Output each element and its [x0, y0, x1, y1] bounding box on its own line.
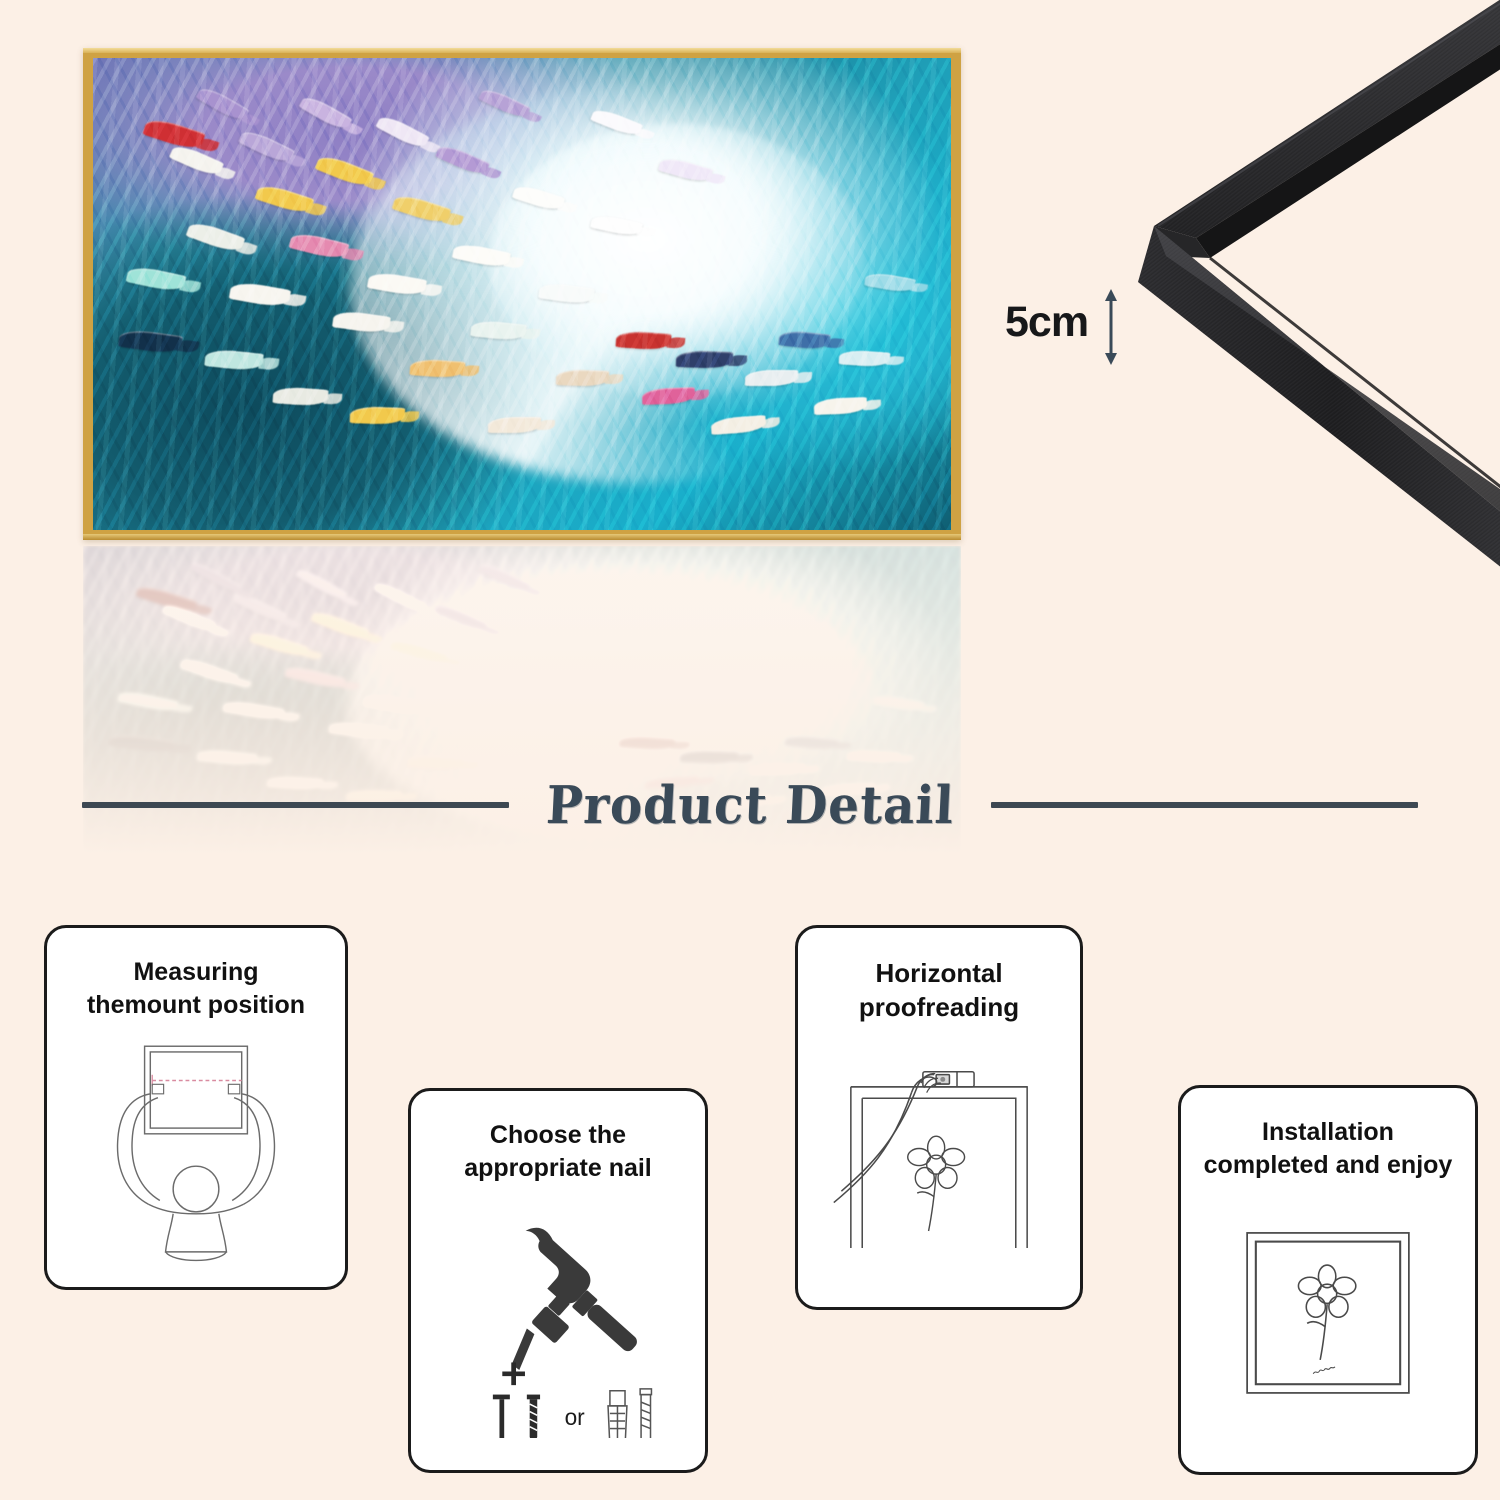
- fish-stroke: [592, 653, 646, 674]
- fish-stroke: [539, 701, 596, 721]
- fish-stroke: [135, 583, 198, 615]
- fish-stroke: [373, 580, 426, 615]
- or-label: or: [565, 1403, 586, 1429]
- fish-stroke: [232, 590, 288, 625]
- instruction-card-title: Installation completed and enjoy: [1204, 1116, 1453, 1182]
- fish-stroke: [408, 755, 465, 771]
- reflection-swirl-core: [487, 592, 873, 783]
- impasto-texture-b: [93, 58, 951, 530]
- instruction-card-installation-complete[interactable]: Installation completed and enjoy: [1178, 1085, 1478, 1475]
- fish-stroke: [873, 693, 925, 712]
- fish-stroke: [363, 693, 424, 716]
- instruction-card-choose-nail[interactable]: Choose the appropriate nail: [408, 1088, 708, 1473]
- instruction-card-horizontal-proofreading[interactable]: Horizontal proofreading: [795, 925, 1083, 1310]
- fish-stroke: [249, 630, 308, 660]
- fish-stroke: [189, 560, 242, 597]
- double-arrow-vertical-icon: [1098, 288, 1124, 366]
- instruction-card-title: Horizontal proofreading: [859, 956, 1019, 1025]
- fish-stroke: [390, 636, 449, 666]
- fish-stroke: [117, 688, 178, 713]
- person-measuring-mount-position-illustration: [61, 1028, 331, 1271]
- fish-stroke: [662, 611, 717, 637]
- instruction-card-measuring[interactable]: Measuring themount position: [44, 925, 348, 1290]
- fish-stroke: [451, 672, 510, 696]
- fish-stroke: [469, 728, 526, 746]
- black-wood-frame-corner: [1130, 0, 1500, 590]
- hand-with-spirit-level-on-frame-illustration: [812, 1025, 1066, 1291]
- fish-stroke: [197, 748, 258, 767]
- fish-stroke: [109, 733, 175, 755]
- fish-stroke: [162, 601, 217, 634]
- fish-stroke: [284, 664, 345, 691]
- fish-stroke: [478, 561, 530, 594]
- page-title: Product Detail: [545, 775, 956, 836]
- heading-rule-right: [991, 802, 1418, 808]
- fish-stroke: [223, 699, 286, 723]
- instruction-card-title: Choose the appropriate nail: [464, 1119, 652, 1185]
- fish-stroke: [434, 601, 488, 633]
- fish-stroke: [179, 655, 238, 687]
- artwork-canvas: [93, 58, 951, 530]
- fish-stroke: [847, 749, 900, 763]
- fish-stroke: [618, 735, 675, 751]
- hammer-and-fasteners-illustration: or: [425, 1185, 691, 1454]
- framed-artwork[interactable]: [83, 48, 961, 540]
- fish-stroke: [680, 750, 738, 764]
- heading-rule-left: [82, 802, 509, 808]
- fish-stroke: [295, 566, 348, 603]
- product-detail-heading-row: Product Detail: [0, 770, 1500, 840]
- frame-depth-label: 5cm: [1005, 298, 1088, 347]
- product-hero-section: 5cm: [0, 0, 1500, 900]
- fish-stroke: [328, 720, 387, 740]
- fish-stroke: [592, 576, 645, 606]
- instruction-card-title: Measuring themount position: [87, 956, 305, 1022]
- fish-stroke: [311, 608, 369, 641]
- fish-stroke: [513, 631, 567, 658]
- hung-frame-with-flower-illustration: [1195, 1182, 1461, 1456]
- fish-stroke: [785, 735, 839, 752]
